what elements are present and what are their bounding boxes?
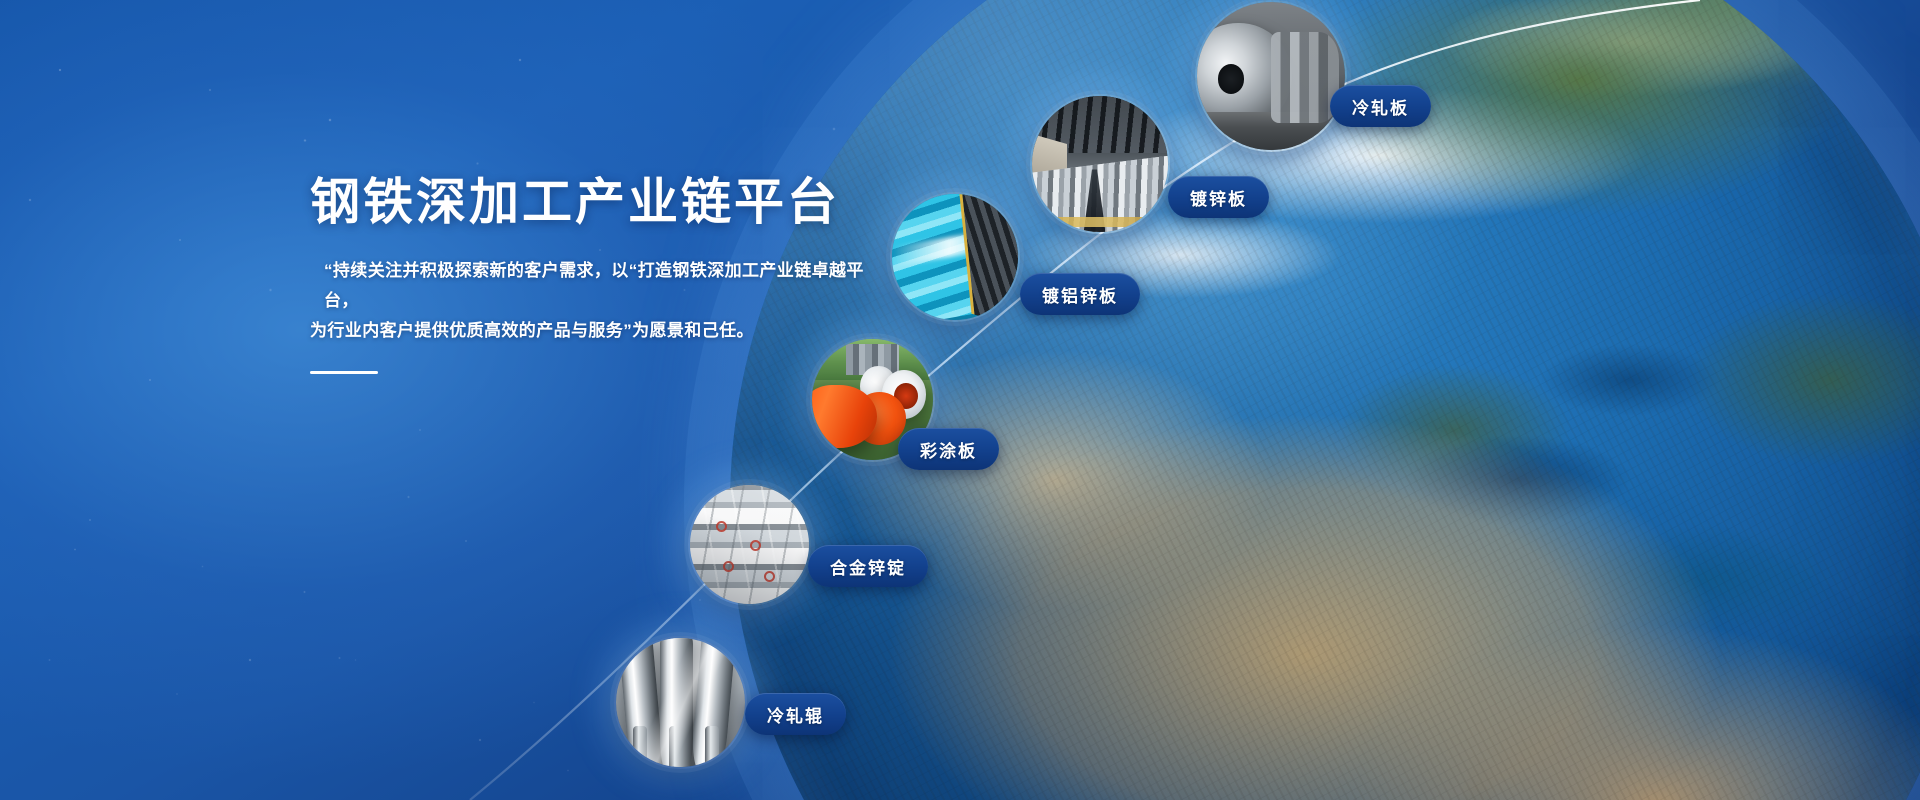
label-galvanized-plate[interactable]: 镀锌板 [1168,176,1269,218]
page-title: 钢铁深加工产业链平台 [310,175,890,230]
thumb-zinc-alloy-ingot[interactable] [688,483,811,606]
subtitle-line-1: “持续关注并积极探索新的客户需求，以“打造钢铁深加工产业链卓越平台， [310,256,870,316]
thumb-galvanized-plate[interactable] [1030,94,1170,234]
image-aluzinc-plate [892,194,1018,320]
title-underline-rule [310,371,378,374]
image-cold-rolled-plate [1197,2,1345,150]
page-subtitle: “持续关注并积极探索新的客户需求，以“打造钢铁深加工产业链卓越平台， 为行业内客… [310,256,870,345]
label-aluzinc-plate[interactable]: 镀铝锌板 [1020,273,1140,315]
subtitle-line-2: 为行业内客户提供优质高效的产品与服务”为愿景和己任。 [310,316,870,346]
image-galvanized-plate [1032,96,1168,232]
label-cold-roll-roller[interactable]: 冷轧辊 [745,693,846,735]
label-zinc-alloy-ingot[interactable]: 合金锌锭 [808,545,928,587]
image-zinc-alloy-ingot [690,485,809,604]
label-color-coated-plate[interactable]: 彩涂板 [898,428,999,470]
hero-banner: 钢铁深加工产业链平台 “持续关注并积极探索新的客户需求，以“打造钢铁深加工产业链… [0,0,1920,800]
label-cold-rolled-plate[interactable]: 冷轧板 [1330,85,1431,127]
hero-copy: 钢铁深加工产业链平台 “持续关注并积极探索新的客户需求，以“打造钢铁深加工产业链… [310,175,890,374]
image-cold-roll-roller [616,638,745,767]
thumb-aluzinc-plate[interactable] [890,192,1020,322]
thumb-cold-rolled-plate[interactable] [1195,0,1347,152]
thumb-cold-roll-roller[interactable] [614,636,747,769]
